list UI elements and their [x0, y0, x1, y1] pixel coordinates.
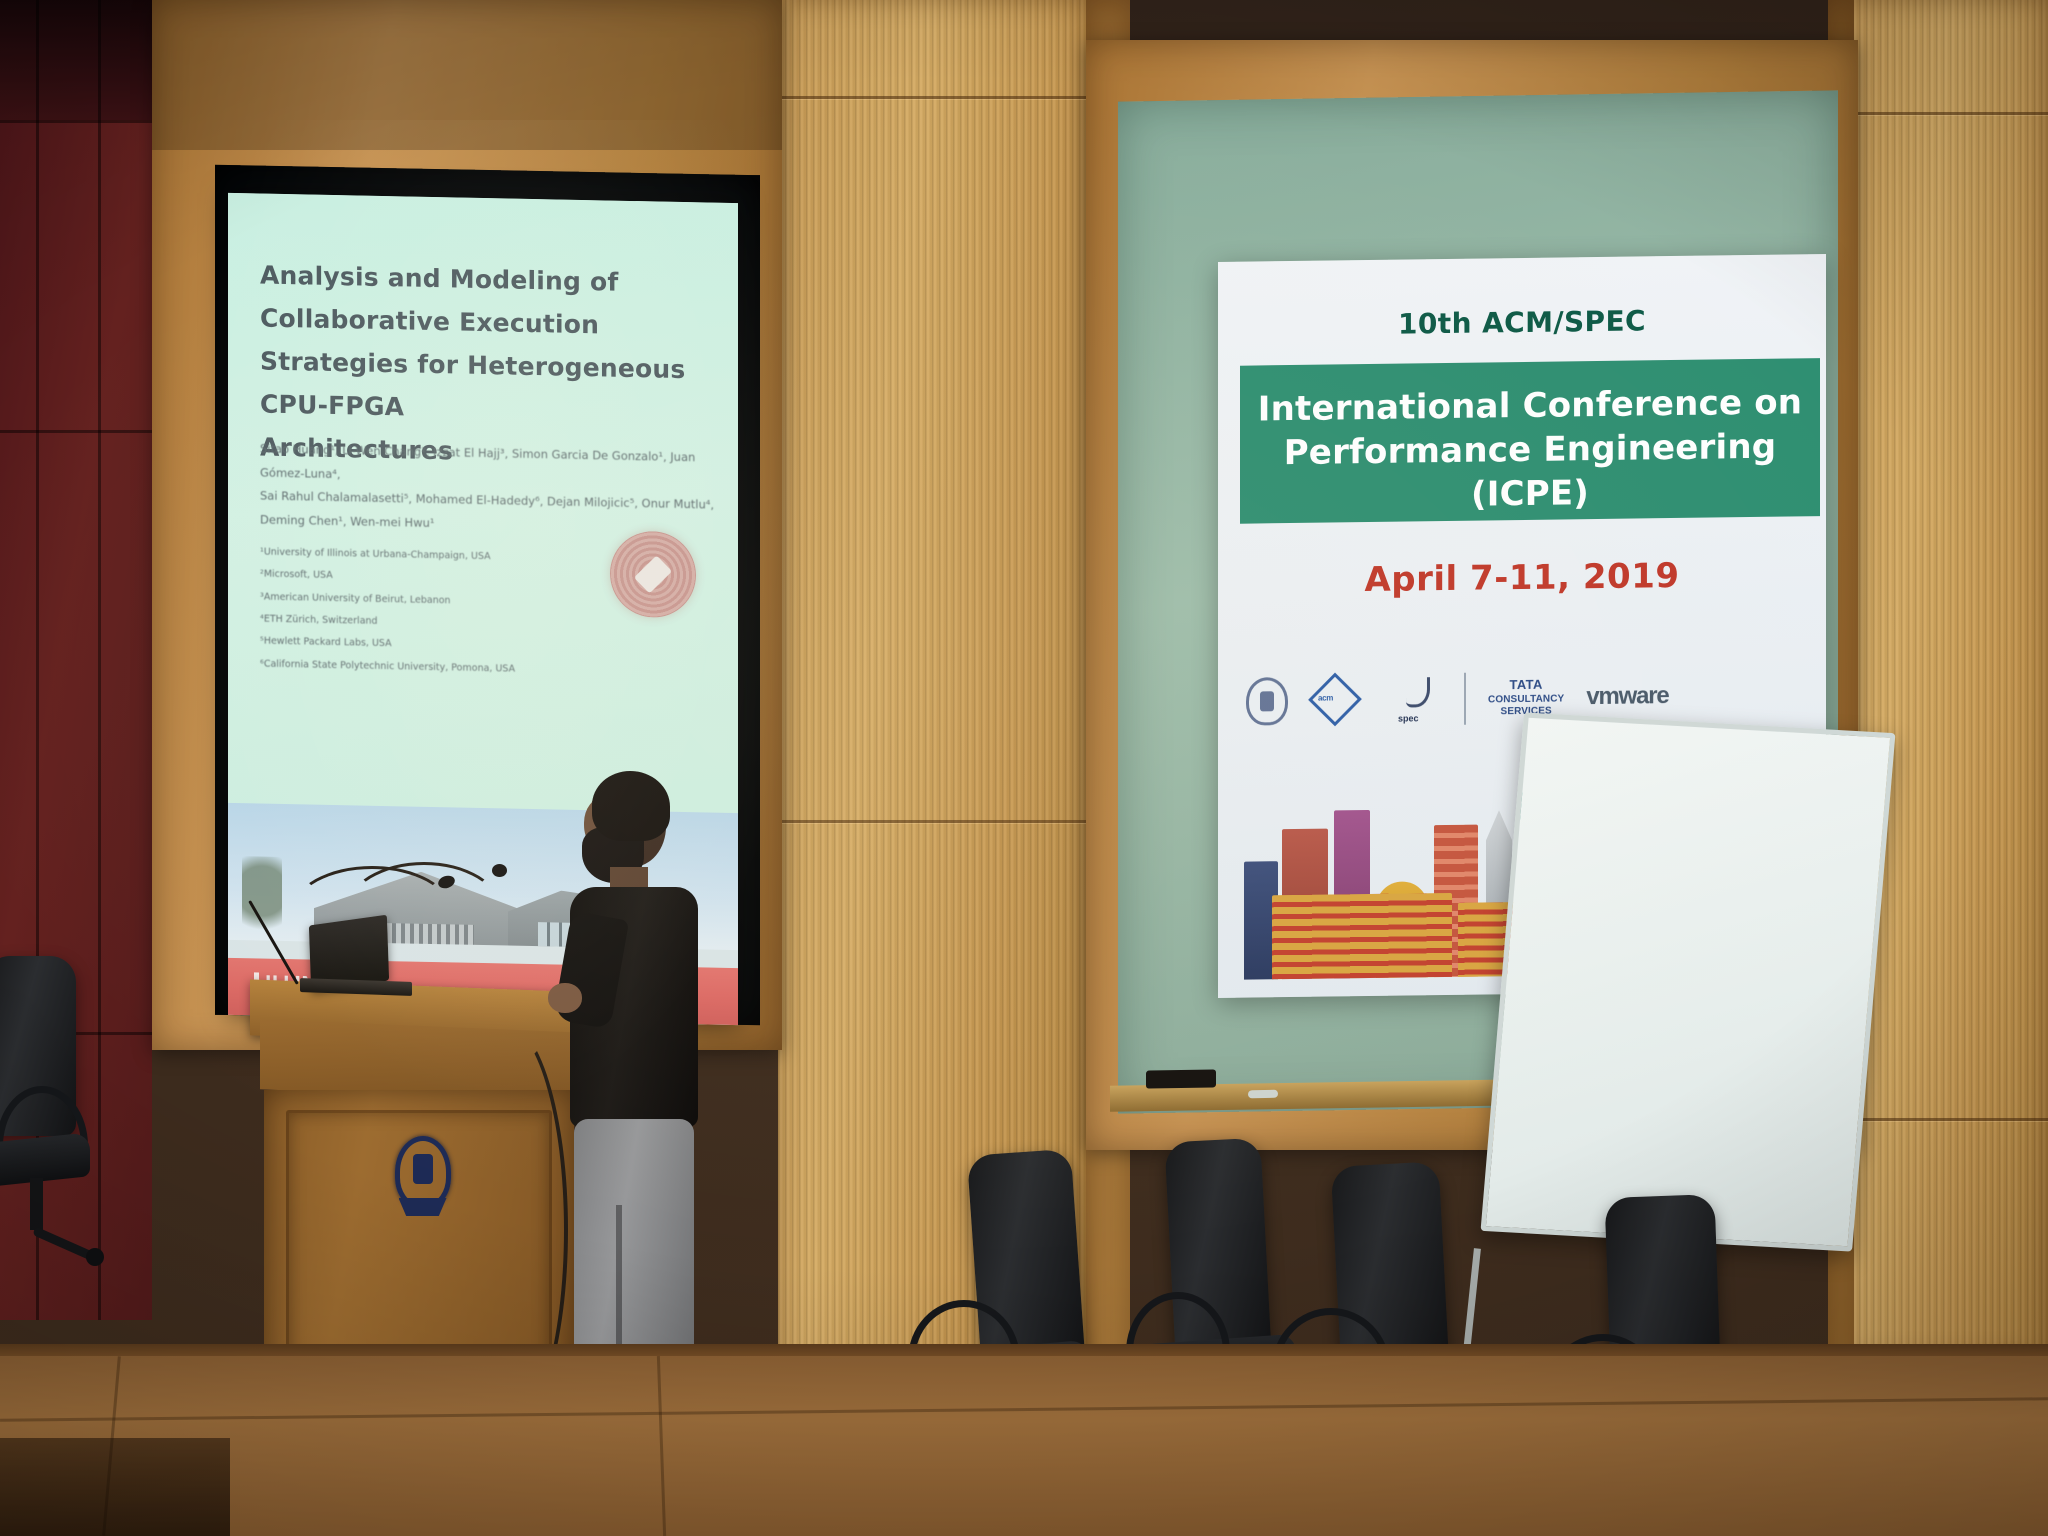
- conference-hall-scene: Analysis and Modeling of Collaborative E…: [0, 0, 2048, 1536]
- whiteboard-surface[interactable]: [1481, 712, 1896, 1251]
- frame-shadow: [152, 0, 782, 150]
- whiteboard-easel[interactable]: [1481, 712, 1896, 1251]
- banner-title-line-1: International Conference on: [1258, 382, 1802, 429]
- skyline-low-block: [1272, 893, 1452, 979]
- banner-title-line-2: Performance Engineering (ICPE): [1284, 427, 1777, 515]
- wall-seam: [0, 120, 152, 123]
- banner-eyebrow: 10th ACM/SPEC: [1218, 302, 1826, 343]
- acm-logo-icon: acm: [1310, 678, 1372, 723]
- speaker-leg-seam: [616, 1205, 622, 1365]
- chair-gas-post: [30, 1178, 43, 1230]
- speaker-hair: [592, 771, 670, 841]
- slide-upper-area: Analysis and Modeling of Collaborative E…: [228, 193, 738, 813]
- floor-shadow: [0, 1438, 230, 1536]
- stage-floor: [0, 1356, 2048, 1536]
- banner-title-block: International Conference on Performance …: [1240, 358, 1820, 524]
- spec-logo-icon: spec: [1394, 675, 1442, 724]
- speaker-trousers: [574, 1119, 694, 1369]
- speaker-hand: [548, 983, 582, 1013]
- vmware-logo-icon: vmware: [1586, 682, 1668, 711]
- floor-seam: [0, 1397, 2048, 1421]
- microphone-right: [336, 862, 536, 982]
- chair-caster: [86, 1248, 104, 1266]
- sponsor-divider: [1464, 673, 1466, 725]
- chair[interactable]: [0, 956, 110, 1256]
- wood-wall-panel-right: [1838, 0, 2048, 1360]
- tree-silhouette: [242, 856, 282, 943]
- chalk-piece: [1248, 1090, 1278, 1099]
- chair-seat: [0, 1132, 90, 1188]
- wall-shadow-top: [0, 0, 152, 120]
- wall-seam: [0, 430, 152, 433]
- floor-seam: [657, 1356, 666, 1536]
- illinois-seal-icon: [610, 531, 696, 619]
- slide-title-line-2: Strategies for Heterogeneous CPU-FPGA: [260, 340, 722, 435]
- banner-date: April 7-11, 2019: [1218, 554, 1826, 602]
- slide-title-line-1: Analysis and Modeling of Collaborative E…: [260, 254, 722, 349]
- banner-title: International Conference on Performance …: [1240, 358, 1820, 520]
- iit-bombay-seal-icon: [1246, 677, 1288, 726]
- slide-author-list: Sitao Huang¹, Li-Wen Chang², Izzat El Ha…: [260, 438, 728, 542]
- board-eraser: [1146, 1069, 1216, 1088]
- speaker-person: [552, 775, 732, 1405]
